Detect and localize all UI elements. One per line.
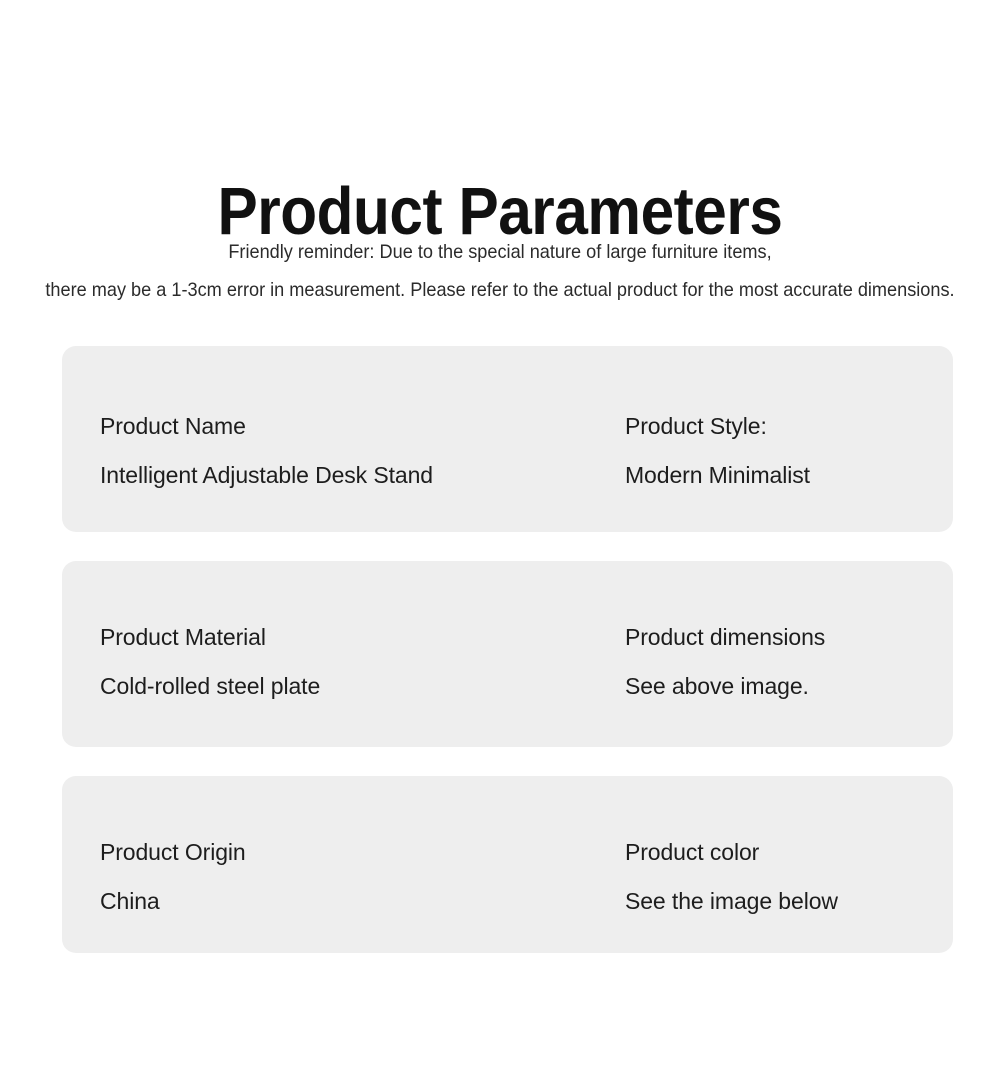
parameter-value: See the image below	[625, 877, 945, 926]
parameter-value: Modern Minimalist	[625, 451, 945, 500]
parameter-card-3: Product Origin China Product color See t…	[62, 776, 953, 953]
parameter-pair-product-origin: Product Origin China	[100, 776, 600, 926]
parameter-label: Product color	[625, 828, 945, 877]
parameter-label: Product Material	[100, 613, 600, 662]
parameter-label: Product dimensions	[625, 613, 945, 662]
measurement-notice: Friendly reminder: Due to the special na…	[0, 233, 1000, 309]
parameter-pair-product-style: Product Style: Modern Minimalist	[625, 346, 945, 500]
measurement-notice-line-2: there may be a 1-3cm error in measuremen…	[35, 271, 965, 309]
parameter-pair-product-material: Product Material Cold-rolled steel plate	[100, 561, 600, 711]
parameter-value: Cold-rolled steel plate	[100, 662, 600, 711]
parameter-card-1: Product Name Intelligent Adjustable Desk…	[62, 346, 953, 532]
parameter-value: See above image.	[625, 662, 945, 711]
parameter-label: Product Origin	[100, 828, 600, 877]
parameter-pair-product-color: Product color See the image below	[625, 776, 945, 926]
parameter-label: Product Name	[100, 402, 600, 451]
parameter-value: Intelligent Adjustable Desk Stand	[100, 451, 600, 500]
measurement-notice-line-1: Friendly reminder: Due to the special na…	[35, 233, 965, 271]
product-parameters-page: Product Parameters Friendly reminder: Du…	[0, 0, 1000, 1072]
parameter-value: China	[100, 877, 600, 926]
parameter-pair-product-name: Product Name Intelligent Adjustable Desk…	[100, 346, 600, 500]
parameter-card-2: Product Material Cold-rolled steel plate…	[62, 561, 953, 747]
parameter-label: Product Style:	[625, 402, 945, 451]
parameter-pair-product-dimensions: Product dimensions See above image.	[625, 561, 945, 711]
